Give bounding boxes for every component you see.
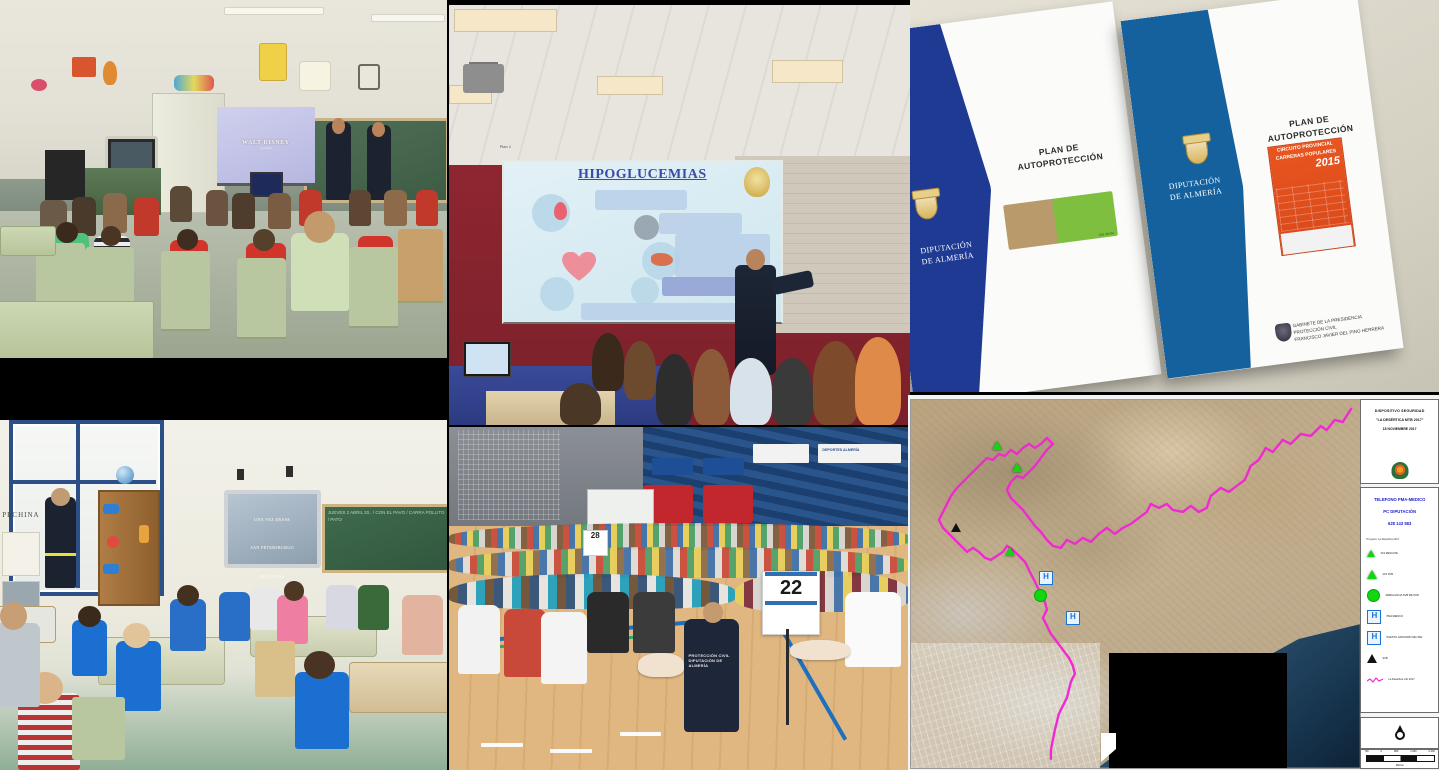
red-drape: [703, 485, 754, 523]
instructor-officer: PROTECCIÓN CIVIL DIPUTACIÓN DE ALMERÍA: [684, 619, 739, 732]
seated-student: [541, 612, 587, 684]
marker-4x4-svb[interactable]: [1005, 547, 1015, 556]
legend-label: PMA MEDICO: [1386, 615, 1403, 618]
child: [232, 193, 254, 229]
child: [295, 672, 349, 749]
cover-photo: Vía Verde: [1003, 191, 1117, 250]
child: [349, 190, 371, 226]
legend-item: SVB: [1361, 646, 1437, 667]
child: [384, 190, 406, 226]
framed-picture: [358, 64, 380, 90]
scale-tick: 0: [1381, 750, 1382, 753]
cpr-manikin: [638, 653, 684, 677]
legend-label: PUESTO SANITARIO MILITAR: [1386, 636, 1422, 639]
wall-decoration-guitar: [103, 61, 117, 85]
hospital-marker-icon: H: [1367, 631, 1381, 645]
seated-student: [633, 592, 674, 654]
liver-icon: [651, 253, 673, 266]
letter-decoration: [103, 504, 119, 514]
photo-autoproteccion-documents: DIPUTACIÓN DE ALMERÍA PLAN DE AUTOPROTEC…: [910, 0, 1439, 392]
child: [219, 592, 250, 641]
sponsor-banner: [703, 458, 744, 475]
marker-puesto-sanitario-militar[interactable]: H: [1066, 611, 1080, 625]
child-head: [253, 229, 275, 250]
classroom-table: [349, 662, 447, 713]
protection-civil-emblem-icon: [1391, 462, 1408, 479]
whiteboard-line-3: LES CLARA: [228, 550, 317, 578]
audience-member: [772, 358, 813, 425]
race-poster: CIRCUITO PROVINCIAL CARRERAS POPULARES 2…: [1266, 137, 1356, 256]
child: [206, 190, 228, 226]
child: [268, 193, 290, 229]
child: [402, 595, 442, 655]
marker-svb[interactable]: [951, 523, 961, 532]
marker-4x4-rescate[interactable]: [992, 441, 1002, 450]
legend-item: La Desértica mtb 2017: [1361, 667, 1437, 688]
legend-body-box: TELEFONO PMA-MEDICO PC DIPUTACIÓN 628 14…: [1360, 487, 1438, 713]
globe: [116, 466, 134, 484]
redaction-overlay: [1109, 653, 1286, 768]
chair: [255, 641, 295, 697]
legend-label: SVB: [1382, 657, 1387, 660]
window-mullion: [76, 420, 80, 588]
photo-conference-hipoglucemias: HIPOGLUCEMIAS Plan 1: [449, 5, 910, 425]
contact-line-1: TELEFONO PMA-MEDICO: [1361, 488, 1437, 502]
speaker: [237, 469, 244, 480]
wall-decoration-drum: [72, 57, 96, 77]
seated-student: [504, 609, 545, 678]
window-mullion: [9, 480, 157, 484]
chair: [72, 697, 126, 760]
desk: [0, 301, 154, 358]
projection-screen: [587, 489, 654, 525]
desk: [0, 226, 56, 257]
child: [277, 595, 308, 644]
document-footer: GABINETE DE LA PRESIDENCIA PROTECCIÓN CI…: [1292, 310, 1394, 344]
contact-phone: 628 143 583: [1361, 514, 1437, 526]
scale-tick: 2.400: [1429, 750, 1435, 753]
legend-header-line-2: "LA DESÉRTICA MTB 2017": [1361, 413, 1437, 422]
audience-member: [693, 349, 730, 425]
ceiling-lamp: [597, 76, 664, 95]
emblem-icon: [744, 167, 770, 197]
legend-label: 4X4 SVB: [1382, 573, 1393, 576]
audience-member: [560, 383, 601, 425]
document-title: PLAN DE AUTOPROTECCIÓN: [996, 137, 1122, 177]
child: [170, 186, 192, 222]
legend-header-line-1: DISPOSITIVO SEGURIDAD: [1361, 400, 1437, 413]
projector-plate-label: Plan 1: [500, 144, 511, 149]
child: [326, 585, 357, 631]
speaker-head: [746, 249, 764, 270]
hospital-marker-icon: H: [1367, 610, 1381, 624]
child-head: [78, 606, 100, 627]
child: [134, 197, 159, 236]
number-five-decoration: [139, 525, 149, 543]
icon-medication-circle: [631, 277, 659, 305]
sign-post: [786, 629, 789, 725]
legend-item: AMBULANCIA SVB MILITAR: [1361, 583, 1437, 604]
scale-tick: 1.600: [1410, 750, 1416, 753]
wall-poster: [2, 532, 40, 576]
court-line-white: [550, 749, 591, 753]
green-triangle-icon: [1367, 550, 1375, 557]
child-head: [304, 651, 335, 679]
heart-icon: [562, 252, 596, 282]
green-triangle-icon: [1367, 570, 1377, 579]
document-plan-right: DIPUTACIÓN DE ALMERÍA PLAN DE AUTOPROTEC…: [1120, 0, 1403, 379]
instructor-head: [372, 122, 385, 137]
secondary-station-sign: 28: [583, 530, 608, 556]
uniform-line-2: DIPUTACIÓN DE ALMERÍA: [689, 658, 740, 668]
audience-member: [592, 333, 624, 392]
slide-subtitle: presents: [260, 146, 271, 150]
ceiling-projector: [463, 64, 504, 93]
legend-label: AMBULANCIA SVB MILITAR: [1385, 594, 1418, 597]
blood-drop-icon: [554, 202, 567, 220]
child-head: [101, 226, 122, 246]
map-legend-panel: DISPOSITIVO SEGURIDAD "LA DESÉRTICA MTB …: [1360, 399, 1436, 767]
sponsor-banner: [753, 444, 808, 463]
adult-assistant: [291, 233, 349, 312]
child-head: [123, 623, 150, 648]
laptop: [463, 341, 511, 377]
chair: [398, 229, 443, 301]
photo-classroom-walt-disney: WALT DISNEY presents: [0, 0, 447, 358]
instructor-head: [332, 118, 345, 133]
child: [358, 585, 389, 631]
scale-tick: 800: [1394, 750, 1398, 753]
letter-decoration: [103, 564, 119, 574]
court-line-white: [620, 732, 661, 736]
station-sign: 22: [762, 571, 819, 635]
sign-footer-bar: [765, 601, 816, 605]
audience-member: [855, 337, 901, 425]
audience-member: [624, 341, 656, 400]
instructor: [326, 122, 351, 201]
scale-unit: Metros: [1361, 764, 1437, 767]
safety-net: [458, 430, 559, 519]
ceiling-lamp: [454, 9, 557, 32]
poster-race-table: [1276, 180, 1349, 232]
instructor-officer: [45, 497, 76, 588]
audience-member: [656, 354, 693, 425]
legend-item: H PUESTO SANITARIO MILITAR: [1361, 625, 1437, 646]
wall-chart-yellow: [259, 43, 287, 81]
sponsor-banner: [652, 458, 693, 475]
letter-decoration: [107, 536, 119, 548]
chalkboard: JUEVES 2 ABRIL 20.. / CON EL PAVO / CARR…: [322, 504, 447, 573]
route-line-icon: [1367, 677, 1383, 683]
storage-box: [45, 150, 85, 200]
child: [72, 620, 108, 676]
audience-member: [813, 341, 859, 425]
child-head: [284, 581, 305, 601]
child-head: [177, 229, 198, 250]
scale-bar: [1366, 755, 1435, 762]
legend-item: 4X4 RESCATE: [1361, 541, 1437, 562]
legend-project-note: Proyecto: La Desértica 2017: [1361, 526, 1437, 541]
adult-visitor: [0, 623, 40, 707]
wall-decoration-maracas: [31, 79, 47, 91]
contact-line-2: PC DIPUTACIÓN: [1361, 502, 1437, 514]
chair: [161, 251, 210, 330]
seated-student: [845, 592, 900, 667]
reflective-stripe: [45, 553, 76, 556]
scale-tick-labels: 700 0 800 1.600 2.400: [1364, 750, 1434, 753]
ceiling-light: [224, 7, 324, 15]
north-arrow-icon: [1392, 725, 1408, 741]
slide-caption: [595, 190, 686, 211]
uniform-text: PROTECCIÓN CIVIL DIPUTACIÓN DE ALMERÍA: [689, 653, 740, 669]
scale-bar-box: 700 0 800 1.600 2.400 Metros: [1360, 749, 1438, 769]
marker-4x4-svb[interactable]: [1012, 463, 1022, 472]
child-head: [177, 585, 199, 606]
photo-montage: WALT DISNEY presents: [0, 0, 1439, 770]
black-triangle-icon: [1367, 654, 1377, 663]
court-line-white: [481, 743, 522, 747]
scale-tick: 700: [1364, 750, 1368, 753]
chair: [349, 247, 398, 326]
cpr-manikin: [790, 640, 850, 661]
protection-civil-emblem-icon: [1274, 322, 1292, 342]
instructor-head: [703, 602, 724, 623]
legend-item: H PMA MEDICO: [1361, 604, 1437, 625]
ceiling-lamp: [772, 60, 843, 83]
child: [170, 599, 206, 652]
station-number: 22: [763, 576, 818, 601]
child: [416, 190, 438, 226]
wall-chart-letters: [299, 61, 331, 91]
cover-photo-caption: Vía Verde: [1098, 231, 1114, 237]
green-circle-icon: [1367, 589, 1380, 602]
slide-caption: [581, 303, 758, 321]
satellite-map[interactable]: H H: [910, 399, 1361, 769]
wall-poster-pechina: PECHINA: [2, 511, 39, 519]
slide-title: HIPOGLUCEMIAS: [504, 162, 781, 183]
slide-caption: [659, 213, 742, 234]
legend-label: 4X4 RESCATE: [1380, 552, 1397, 555]
seated-student: [458, 605, 499, 674]
interactive-whiteboard: UNA VEZ ERASE SAN PETERSBURGO LES CLARA: [224, 490, 321, 568]
map-dispositivo-seguridad: H H DISPOSITIVO SEGURIDAD "LA DESÉRTICA …: [908, 395, 1439, 770]
chalkboard-text: JUEVES 2 ABRIL 20.. / CON EL PAVO / CARR…: [325, 507, 447, 527]
legend-header-line-3: 18 NOVIEMBRE 2017: [1361, 422, 1437, 431]
adult-head: [0, 602, 27, 630]
audience-member: [730, 358, 771, 425]
legend-header-box: DISPOSITIVO SEGURIDAD "LA DESÉRTICA MTB …: [1360, 399, 1438, 484]
whiteboard-line-1: UNA VEZ ERASE: [228, 494, 317, 522]
photo-classroom-pechina: PECHINA UNA VEZ ERASE SAN PETERSBURGO LE…: [0, 420, 447, 770]
compass-box: [1360, 717, 1438, 749]
photo-gym-cpr-training: DEPORTES ALMERÍA PROTECCIÓN CIVIL DIPUTA…: [449, 427, 910, 770]
legend-label: La Desértica mtb 2017: [1388, 678, 1414, 681]
icon-pancreas-circle: [634, 215, 659, 240]
seated-student: [587, 592, 628, 654]
ceiling-light: [371, 14, 445, 22]
toy-pile: [174, 75, 214, 91]
marker-pma-medico[interactable]: H: [1039, 571, 1053, 585]
chair: [237, 258, 286, 337]
speaker: [286, 466, 293, 477]
legend-item: 4X4 SVB: [1361, 562, 1437, 583]
icon-glucose-test-circle: [540, 277, 574, 311]
banner-text: DEPORTES ALMERÍA: [822, 448, 859, 452]
whiteboard-line-2: SAN PETERSBURGO: [228, 522, 317, 550]
